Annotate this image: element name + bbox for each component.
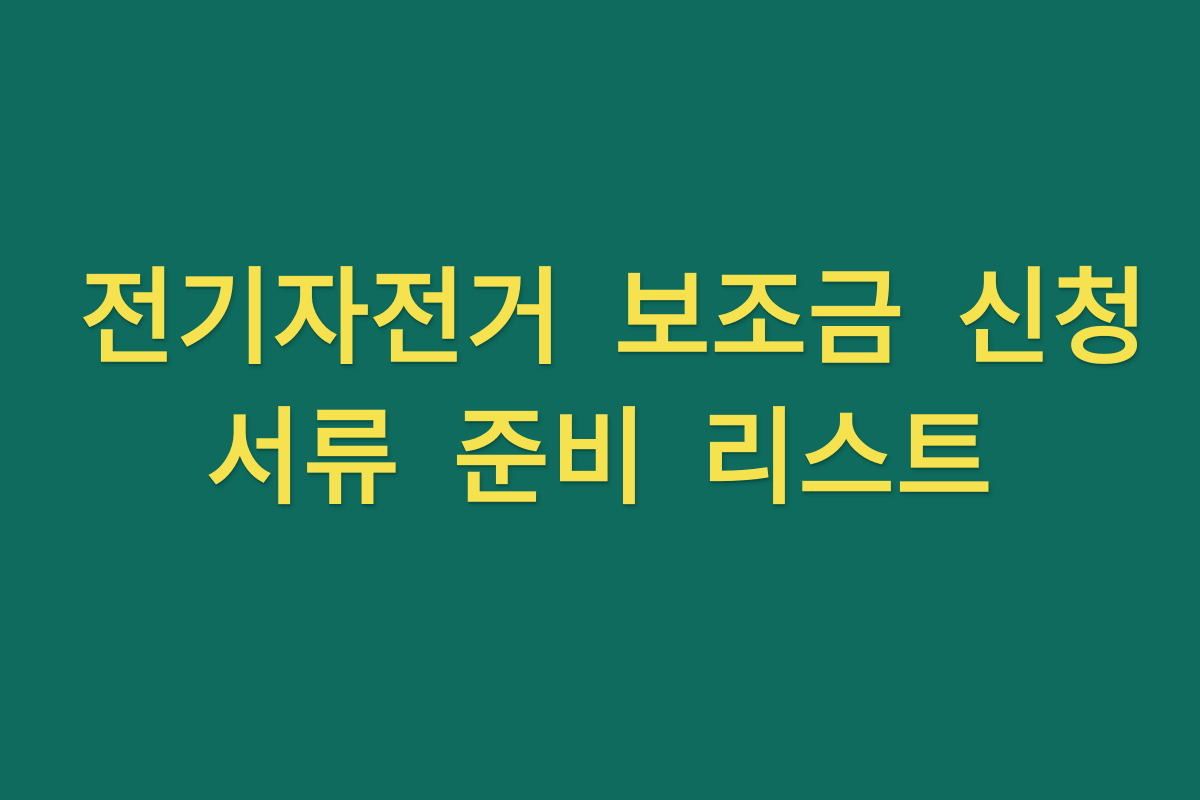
title-card: 전기자전거 보조금 신청 서류 준비 리스트 [0, 0, 1200, 800]
title-line-1: 전기자전거 보조금 신청 [80, 248, 1120, 388]
title-line-2: 서류 준비 리스트 [80, 388, 1120, 528]
page-title: 전기자전거 보조금 신청 서류 준비 리스트 [80, 248, 1120, 528]
